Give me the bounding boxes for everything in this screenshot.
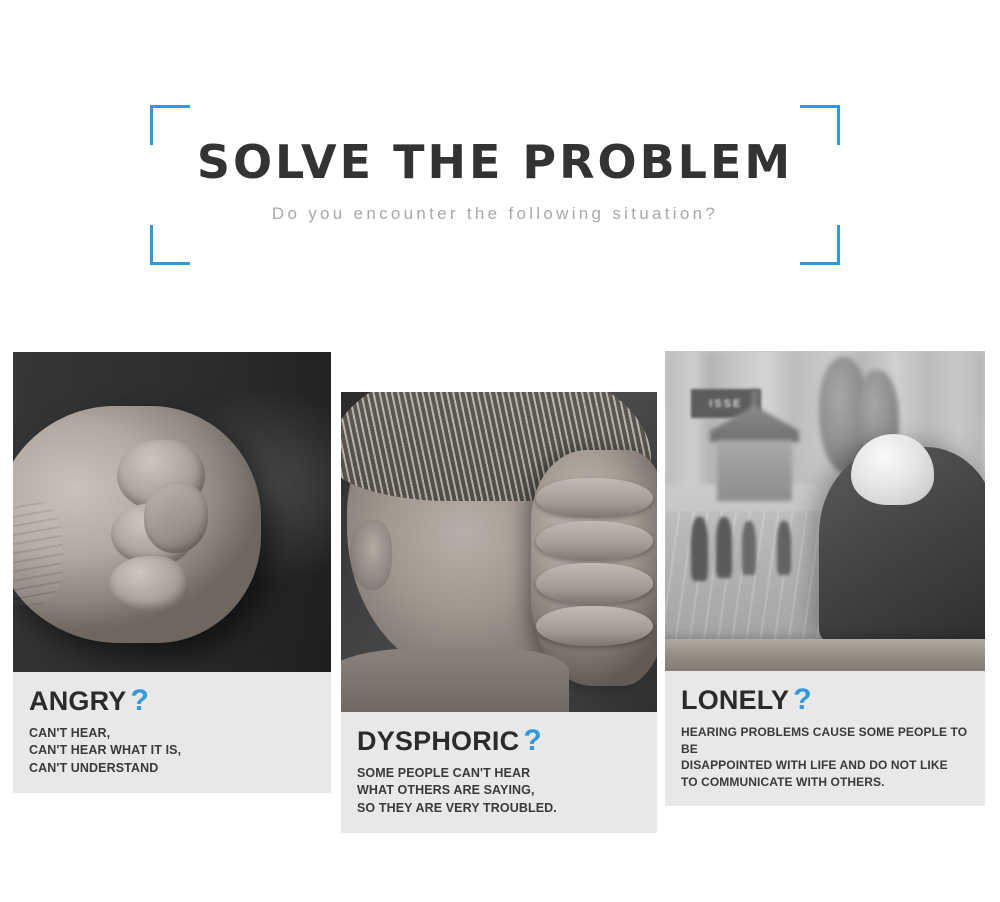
- hand-covering-face: [531, 450, 657, 687]
- header-block: SOLVE THE PROBLEM Do you encounter the f…: [150, 105, 840, 265]
- dysphoric-scene: [341, 392, 657, 712]
- card-photo-angry: [13, 352, 331, 672]
- finger: [536, 521, 653, 561]
- card-body-dysphoric: SOME PEOPLE CAN'T HEAR WHAT OTHERS ARE S…: [357, 765, 641, 817]
- card-photo-lonely: ISSE: [665, 351, 985, 671]
- card-title-text: LONELY: [681, 685, 789, 715]
- card-body-angry: CAN'T HEAR, CAN'T HEAR WHAT IT IS, CAN'T…: [29, 725, 315, 777]
- problem-card-lonely: ISSE LONELY? H: [665, 351, 985, 806]
- wrist-crease: [13, 501, 63, 605]
- fist-scene: [13, 352, 331, 672]
- card-title-text: DYSPHORIC: [357, 726, 519, 756]
- question-mark-icon: ?: [523, 724, 542, 757]
- passerby: [742, 521, 756, 575]
- passerby: [777, 521, 791, 575]
- white-hair: [851, 434, 934, 504]
- finger: [536, 563, 653, 603]
- park-bench: [665, 639, 985, 671]
- finger: [536, 606, 653, 646]
- thumb: [144, 482, 208, 553]
- question-mark-icon: ?: [793, 683, 812, 716]
- page-title: SOLVE THE PROBLEM: [150, 139, 840, 185]
- card-title-dysphoric: DYSPHORIC?: [357, 726, 641, 756]
- corner-bracket-bottom-left-icon: [150, 225, 190, 265]
- promo-page: SOLVE THE PROBLEM Do you encounter the f…: [0, 0, 1000, 902]
- shoulder: [341, 648, 569, 712]
- ear: [350, 520, 391, 590]
- kiosk-roof: [710, 405, 800, 441]
- card-body-lonely: HEARING PROBLEMS CAUSE SOME PEOPLE TO BE…: [681, 724, 969, 790]
- card-caption-dysphoric: DYSPHORIC? SOME PEOPLE CAN'T HEAR WHAT O…: [341, 712, 657, 833]
- finger: [536, 478, 653, 518]
- corner-bracket-bottom-right-icon: [800, 225, 840, 265]
- plaza-scene: ISSE: [665, 351, 985, 671]
- card-caption-lonely: LONELY? HEARING PROBLEMS CAUSE SOME PEOP…: [665, 671, 985, 806]
- page-subtitle: Do you encounter the following situation…: [150, 205, 840, 222]
- card-title-lonely: LONELY?: [681, 685, 969, 715]
- passerby: [691, 517, 709, 581]
- card-photo-dysphoric: [341, 392, 657, 712]
- card-title-angry: ANGRY?: [29, 686, 315, 716]
- question-mark-icon: ?: [131, 684, 150, 717]
- passerby: [716, 517, 732, 578]
- card-caption-angry: ANGRY? CAN'T HEAR, CAN'T HEAR WHAT IT IS…: [13, 672, 331, 793]
- kiosk-body: [717, 440, 792, 501]
- knuckle: [109, 556, 189, 613]
- problem-card-angry: ANGRY? CAN'T HEAR, CAN'T HEAR WHAT IT IS…: [13, 352, 331, 793]
- plaza-kiosk: [710, 405, 800, 501]
- problem-card-dysphoric: DYSPHORIC? SOME PEOPLE CAN'T HEAR WHAT O…: [341, 392, 657, 833]
- fist-shape: [13, 406, 261, 643]
- card-title-text: ANGRY: [29, 686, 127, 716]
